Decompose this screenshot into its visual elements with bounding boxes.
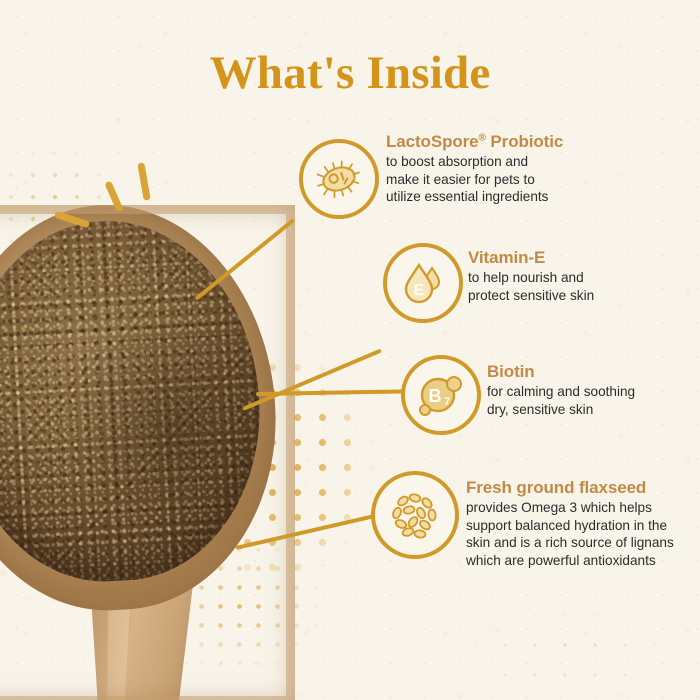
vitamin-e-letter: E [414,282,425,299]
callout-heading-probiotic: LactoSpore® Probiotic [386,132,686,152]
callout-body-vitamin-e: to help nourish and protect sensitive sk… [468,269,698,304]
callout-probiotic: LactoSpore® Probiotic to boost absorptio… [386,132,686,206]
callout-heading-vitamin-e: Vitamin-E [468,248,698,268]
biotin-subscript: 7 [444,396,450,408]
wooden-spoon-image [0,205,295,700]
spoon-bowl-rim [0,205,295,700]
icon-circle-biotin[interactable]: B 7 [401,355,481,435]
biotin-b7-bubble-icon: B 7 [415,369,467,421]
vitamin-e-droplet-icon: E [398,258,448,308]
probiotic-bacteria-icon [314,154,364,204]
callout-heading-flaxseed: Fresh ground flaxseed [466,478,700,498]
callout-flaxseed: Fresh ground flaxseed provides Omega 3 w… [466,478,700,570]
icon-circle-vitamin-e[interactable]: E [383,243,463,323]
icon-circle-flaxseed[interactable] [371,471,459,559]
callout-body-probiotic: to boost absorption and make it easier f… [386,153,686,206]
callout-body-biotin: for calming and soothing dry, sensitive … [487,383,700,418]
callout-biotin: Biotin for calming and soothing dry, sen… [487,362,700,418]
biotin-letter: B [429,386,442,406]
page-title: What's Inside [0,46,700,100]
callout-heading-biotin: Biotin [487,362,700,382]
flaxseed-cluster-icon [387,487,443,543]
callout-vitamin-e: Vitamin-E to help nourish and protect se… [468,248,698,304]
infographic-canvas: What's Inside [0,0,700,700]
icon-circle-probiotic[interactable] [299,139,379,219]
callout-body-flaxseed: provides Omega 3 which helps support bal… [466,499,700,570]
